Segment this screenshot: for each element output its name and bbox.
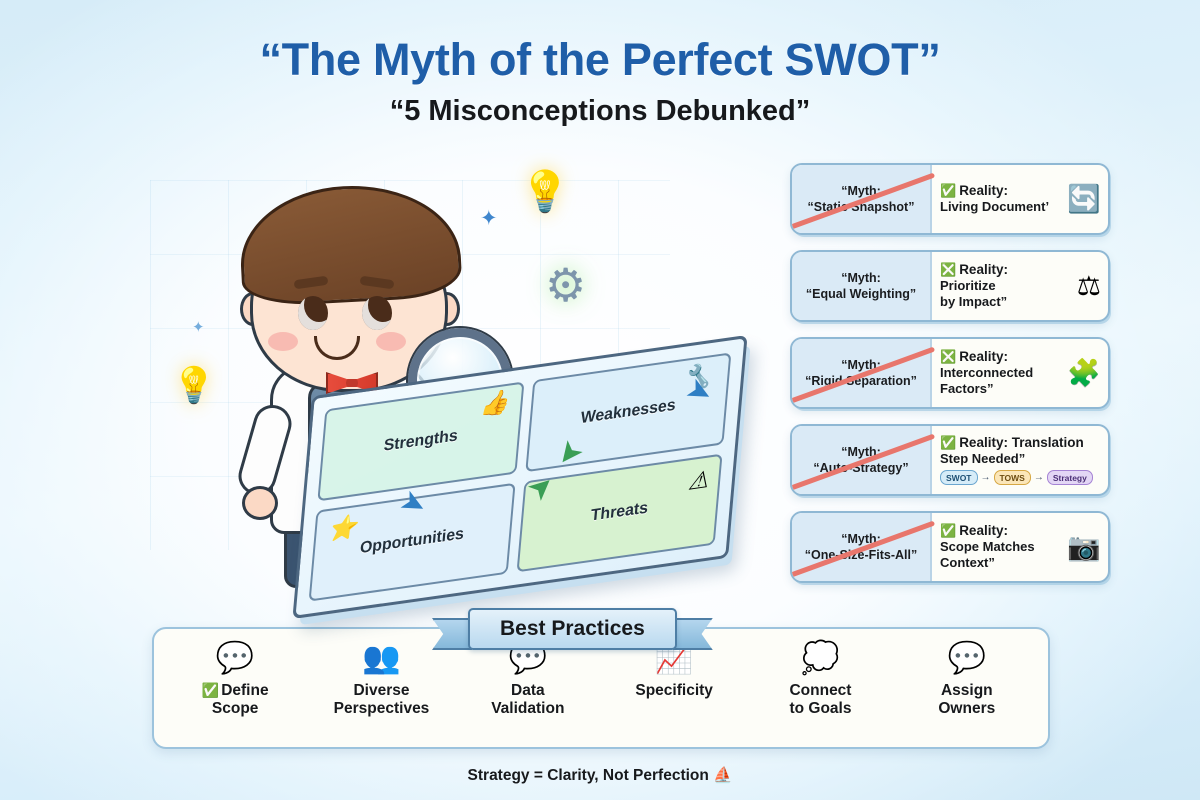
character-hand-left [242,486,278,520]
myth-cards-list: “Myth: “Static Snapshot” ✅ Reality: Livi… [790,163,1110,598]
page-title: “The Myth of the Perfect SWOT” [0,34,1200,86]
swot-quadrant-label: Opportunities [359,525,464,558]
lightbulb-icon: 💡 [172,368,216,403]
swot-quadrant-label: Strengths [383,427,459,456]
camera-lens-icon: 📷 [1067,534,1101,561]
reality-subtext: Scope Matches Context” [940,539,1062,571]
myth-label-line2: “Equal Weighting” [806,286,916,302]
best-practice-label: Assign Owners [938,682,995,718]
best-practice-item[interactable]: 📈 Specificity [601,642,747,700]
white-check-mark-icon: ✅ [202,682,219,698]
reality-subtext: Step Needed” [940,451,1101,467]
swot-quadrant-label: Threats [590,500,649,526]
myth-card[interactable]: “Myth: “Auto-Strategy” ✅ Reality: Transl… [790,424,1110,496]
flow-arrow-icon: → [981,472,991,483]
reality-side: ❎ Reality: Interconnected Factors” 🧩 [932,339,1108,407]
reality-side: ✅ Reality: Translation Step Needed” SWOT… [932,426,1108,494]
swot-tows-strategy-flow: SWOT → TOWS → Strategy [940,470,1101,485]
character-hair [237,180,463,307]
best-practice-label: Connect to Goals [789,682,851,718]
puzzle-piece-icon: 🧩 [1067,360,1101,387]
reality-heading: Reality: Translation [959,435,1084,451]
myth-card[interactable]: “Myth: “Equal Weighting” ❎ Reality: Prio… [790,250,1110,322]
character-cheek-right [376,332,406,351]
thought-cloud-icon: 💭 [801,642,840,678]
reality-heading: Reality: [959,349,1008,365]
swot-quadrant-threats: Threats ⚠ [516,453,723,572]
white-check-mark-icon: ✅ [940,523,956,539]
myth-side: “Myth: “One-Size-Fits-All” [792,513,932,581]
footer-tagline: Strategy = Clarity, Not Perfection ⛵ [0,766,1200,785]
gear-icon: ⚙ [545,262,586,308]
character-eye-right [362,296,392,330]
reality-heading: Reality: [959,262,1008,278]
infographic-poster: “The Myth of the Perfect SWOT” “5 Miscon… [0,0,1200,800]
white-check-mark-icon: ✅ [940,435,956,451]
best-practice-text: Define Scope [212,682,269,717]
myth-side: “Myth: “Rigid Separation” [792,339,932,407]
myth-side: “Myth: “Static Snapshot” [792,165,932,233]
reality-side: ❎ Reality: Prioritize by Impact” ⚖ [932,252,1108,320]
best-practice-label: ✅Define Scope [202,682,269,718]
banner-title: Best Practices [500,617,645,640]
best-practice-item[interactable]: 💭 Connect to Goals [747,642,893,718]
best-practice-item[interactable]: 💬 Assign Owners [894,642,1040,718]
best-practice-item[interactable]: 💬 ✅Define Scope [162,642,308,718]
swot-quadrant-label: Weaknesses [580,396,676,428]
white-check-mark-icon: ✅ [940,183,956,199]
star-icon: ⭐ [327,512,358,544]
best-practice-label: Data Validation [491,682,564,718]
best-practice-label: Specificity [635,682,713,700]
cross-mark-icon: ❎ [940,262,956,278]
chip-tows[interactable]: TOWS [994,470,1031,485]
chip-strategy[interactable]: Strategy [1047,470,1093,485]
best-practice-item[interactable]: 👥 Diverse Perspectives [308,642,454,718]
balance-scale-icon: ⚖ [1077,273,1101,300]
strikethrough-line [790,434,934,492]
illustration: 💡 💡 ⚙ ⚙ ✦ ✦ ✦ 📈 [150,150,780,600]
best-practice-label: Diverse Perspectives [334,682,430,718]
lightbulb-icon: 💡 [520,172,570,212]
speech-bubble-target-icon: 💬 [948,642,987,678]
swot-quadrant-strengths: Strengths 👍 [317,382,524,501]
ribbon-body: Best Practices [468,608,677,650]
myth-card[interactable]: “Myth: “Static Snapshot” ✅ Reality: Livi… [790,163,1110,235]
myth-side: “Myth: “Auto-Strategy” [792,426,932,494]
character-cheek-left [268,332,298,351]
myth-label-line1: “Myth: [841,270,881,286]
best-practices-banner: Best Practices [468,608,677,650]
reality-heading: Reality: [959,523,1008,539]
warning-icon: ⚠ [687,465,710,495]
cross-mark-icon: ❎ [940,349,956,365]
reality-subtext: Prioritize by Impact” [940,278,1072,310]
best-practice-item[interactable]: 💬 Data Validation [455,642,601,718]
reality-side: ✅ Reality: Living Document’ 🔄 [932,165,1108,233]
chip-swot[interactable]: SWOT [940,470,978,485]
myth-card[interactable]: “Myth: “Rigid Separation” ❎ Reality: Int… [790,337,1110,409]
character-eye-left [298,296,328,330]
myth-side: “Myth: “Equal Weighting” [792,252,932,320]
header: “The Myth of the Perfect SWOT” “5 Miscon… [0,34,1200,128]
two-people-icon: 👥 [362,642,401,678]
sparkle-star-icon: ✦ [192,320,205,335]
recycle-arrows-icon: 🔄 [1067,186,1101,213]
myth-card[interactable]: “Myth: “One-Size-Fits-All” ✅ Reality: Sc… [790,511,1110,583]
reality-side: ✅ Reality: Scope Matches Context” 📷 [932,513,1108,581]
reality-subtext: Living Document’ [940,199,1062,215]
reality-subtext: Interconnected Factors” [940,365,1062,397]
flow-arrow-icon: → [1034,472,1044,483]
speech-bubble-magnifier-icon: 💬 [216,642,255,678]
reality-heading: Reality: [959,183,1008,199]
page-subtitle: “5 Misconceptions Debunked” [0,95,1200,128]
thumbs-up-icon: 👍 [479,388,510,420]
